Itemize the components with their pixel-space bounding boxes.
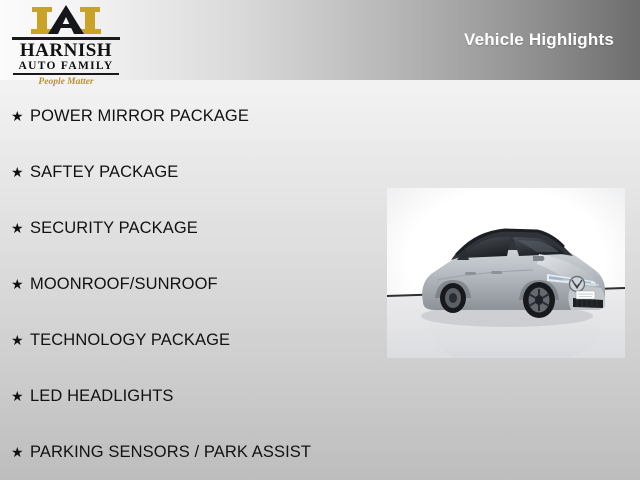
list-item: ★ PARKING SENSORS / PARK ASSIST bbox=[0, 424, 390, 480]
page-header: HARNISH AUTO FAMILY People Matter Vehicl… bbox=[0, 0, 640, 80]
list-item: ★ POWER MIRROR PACKAGE bbox=[0, 88, 390, 144]
vehicle-highlights-list: ★ POWER MIRROR PACKAGE ★ SAFTEY PACKAGE … bbox=[0, 88, 390, 480]
highlight-label: PARKING SENSORS / PARK ASSIST bbox=[30, 443, 311, 462]
highlight-label: SECURITY PACKAGE bbox=[30, 219, 198, 238]
logo-divider-bottom bbox=[13, 73, 119, 75]
highlight-label: POWER MIRROR PACKAGE bbox=[30, 107, 249, 126]
star-bullet-icon: ★ bbox=[11, 165, 30, 179]
list-item: ★ SAFTEY PACKAGE bbox=[0, 144, 390, 200]
star-bullet-icon: ★ bbox=[11, 389, 30, 403]
highlight-label: TECHNOLOGY PACKAGE bbox=[30, 331, 230, 350]
logo-name: HARNISH bbox=[10, 41, 122, 60]
highlight-label: MOONROOF/SUNROOF bbox=[30, 275, 218, 294]
vehicle-photo[interactable] bbox=[387, 188, 625, 358]
star-bullet-icon: ★ bbox=[11, 333, 30, 347]
highlight-label: LED HEADLIGHTS bbox=[30, 387, 174, 406]
list-item: ★ SECURITY PACKAGE bbox=[0, 200, 390, 256]
list-item: ★ MOONROOF/SUNROOF bbox=[0, 256, 390, 312]
star-bullet-icon: ★ bbox=[11, 277, 30, 291]
harnish-h-monogram-icon bbox=[10, 4, 122, 37]
star-bullet-icon: ★ bbox=[11, 445, 30, 459]
star-bullet-icon: ★ bbox=[11, 221, 30, 235]
logo-subtitle: AUTO FAMILY bbox=[10, 60, 122, 72]
list-item: ★ LED HEADLIGHTS bbox=[0, 368, 390, 424]
star-bullet-icon: ★ bbox=[11, 109, 30, 123]
logo-tagline: People Matter bbox=[10, 76, 122, 88]
highlight-label: SAFTEY PACKAGE bbox=[30, 163, 178, 182]
dealer-logo[interactable]: HARNISH AUTO FAMILY People Matter bbox=[10, 4, 122, 78]
list-item: ★ TECHNOLOGY PACKAGE bbox=[0, 312, 390, 368]
page-title: Vehicle Highlights bbox=[464, 30, 614, 50]
